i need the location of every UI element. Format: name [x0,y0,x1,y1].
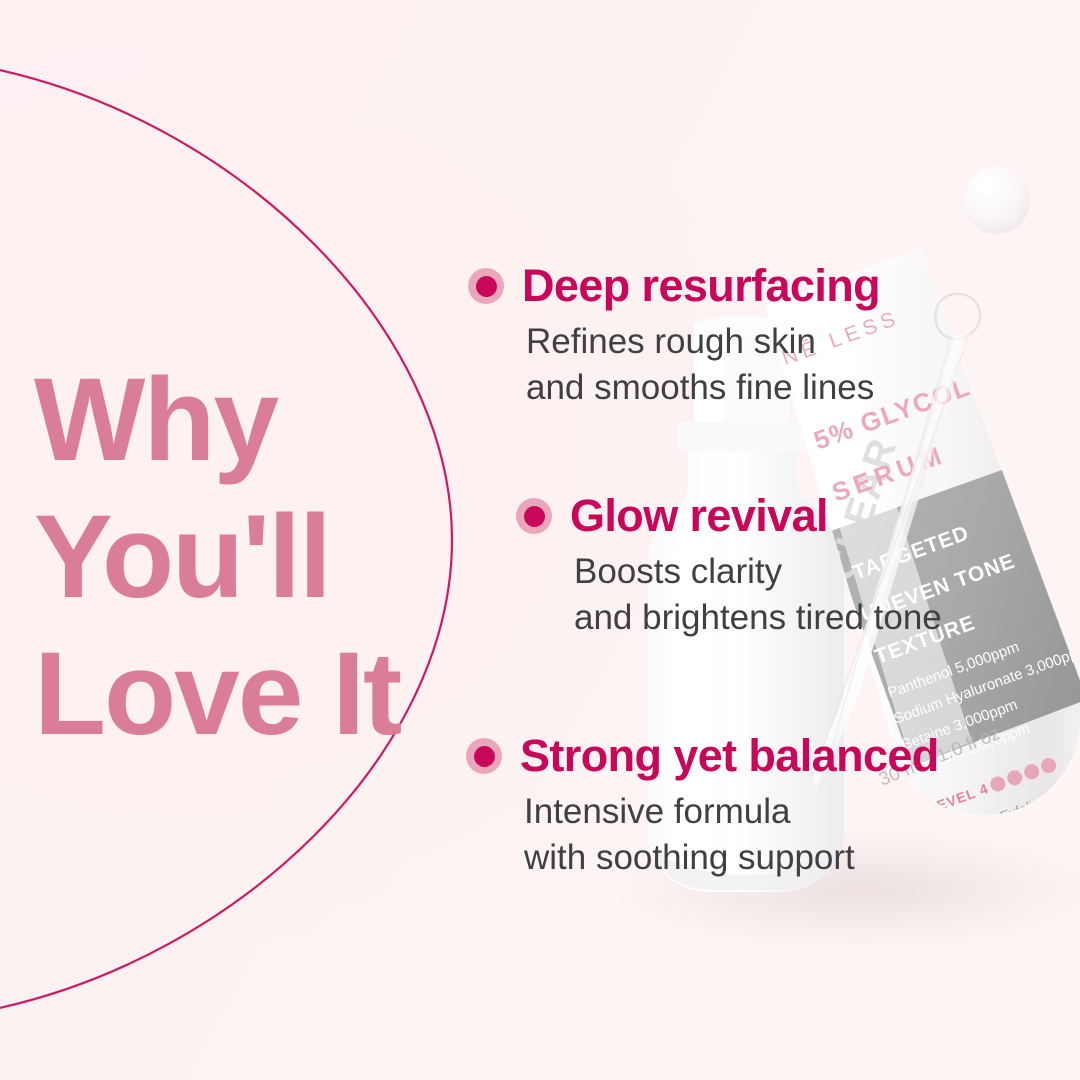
bullet-dot-icon [468,268,504,304]
benefit-heading-row: Glow revival [516,490,942,542]
promo-canvas: NINĒ LESS AHA-CLEAR 5% GLYCOLIC ACID SER… [0,0,1080,1080]
level-dot [1005,768,1024,787]
benefit-heading-row: Strong yet balanced [466,730,939,782]
benefit-heading-row: Deep resurfacing [468,260,880,312]
benefit-title: Deep resurfacing [522,260,880,312]
benefit-description: Boosts clarity and brightens tired tone [574,549,942,640]
benefit-title: Strong yet balanced [520,730,939,782]
benefit-item-glow-revival[interactable]: Glow revival Boosts clarity and brighten… [516,490,942,640]
level-dot [1039,756,1058,775]
benefit-description: Refines rough skin and smooths fine line… [526,319,880,410]
page-headline: Why You'll Love It [34,352,454,763]
serum-droplet [964,166,1030,234]
bullet-dot-icon [516,498,552,534]
level-dot [1022,762,1041,781]
benefit-item-deep-resurfacing[interactable]: Deep resurfacing Refines rough skin and … [468,260,880,410]
benefit-item-strong-yet-balanced[interactable]: Strong yet balanced Intensive formula wi… [466,730,939,880]
benefit-title: Glow revival [570,490,828,542]
bullet-dot-icon [466,738,502,774]
level-dot [988,774,1007,793]
benefit-description: Intensive formula with soothing support [524,789,939,880]
product-ingredient-2: Sodium Hyaluronate 3,000ppm [892,641,1080,728]
product-level-caption: Intensive Exfoliation [942,787,1064,845]
product-ingredient-1: Panthenol 5,000ppm [886,638,1022,701]
